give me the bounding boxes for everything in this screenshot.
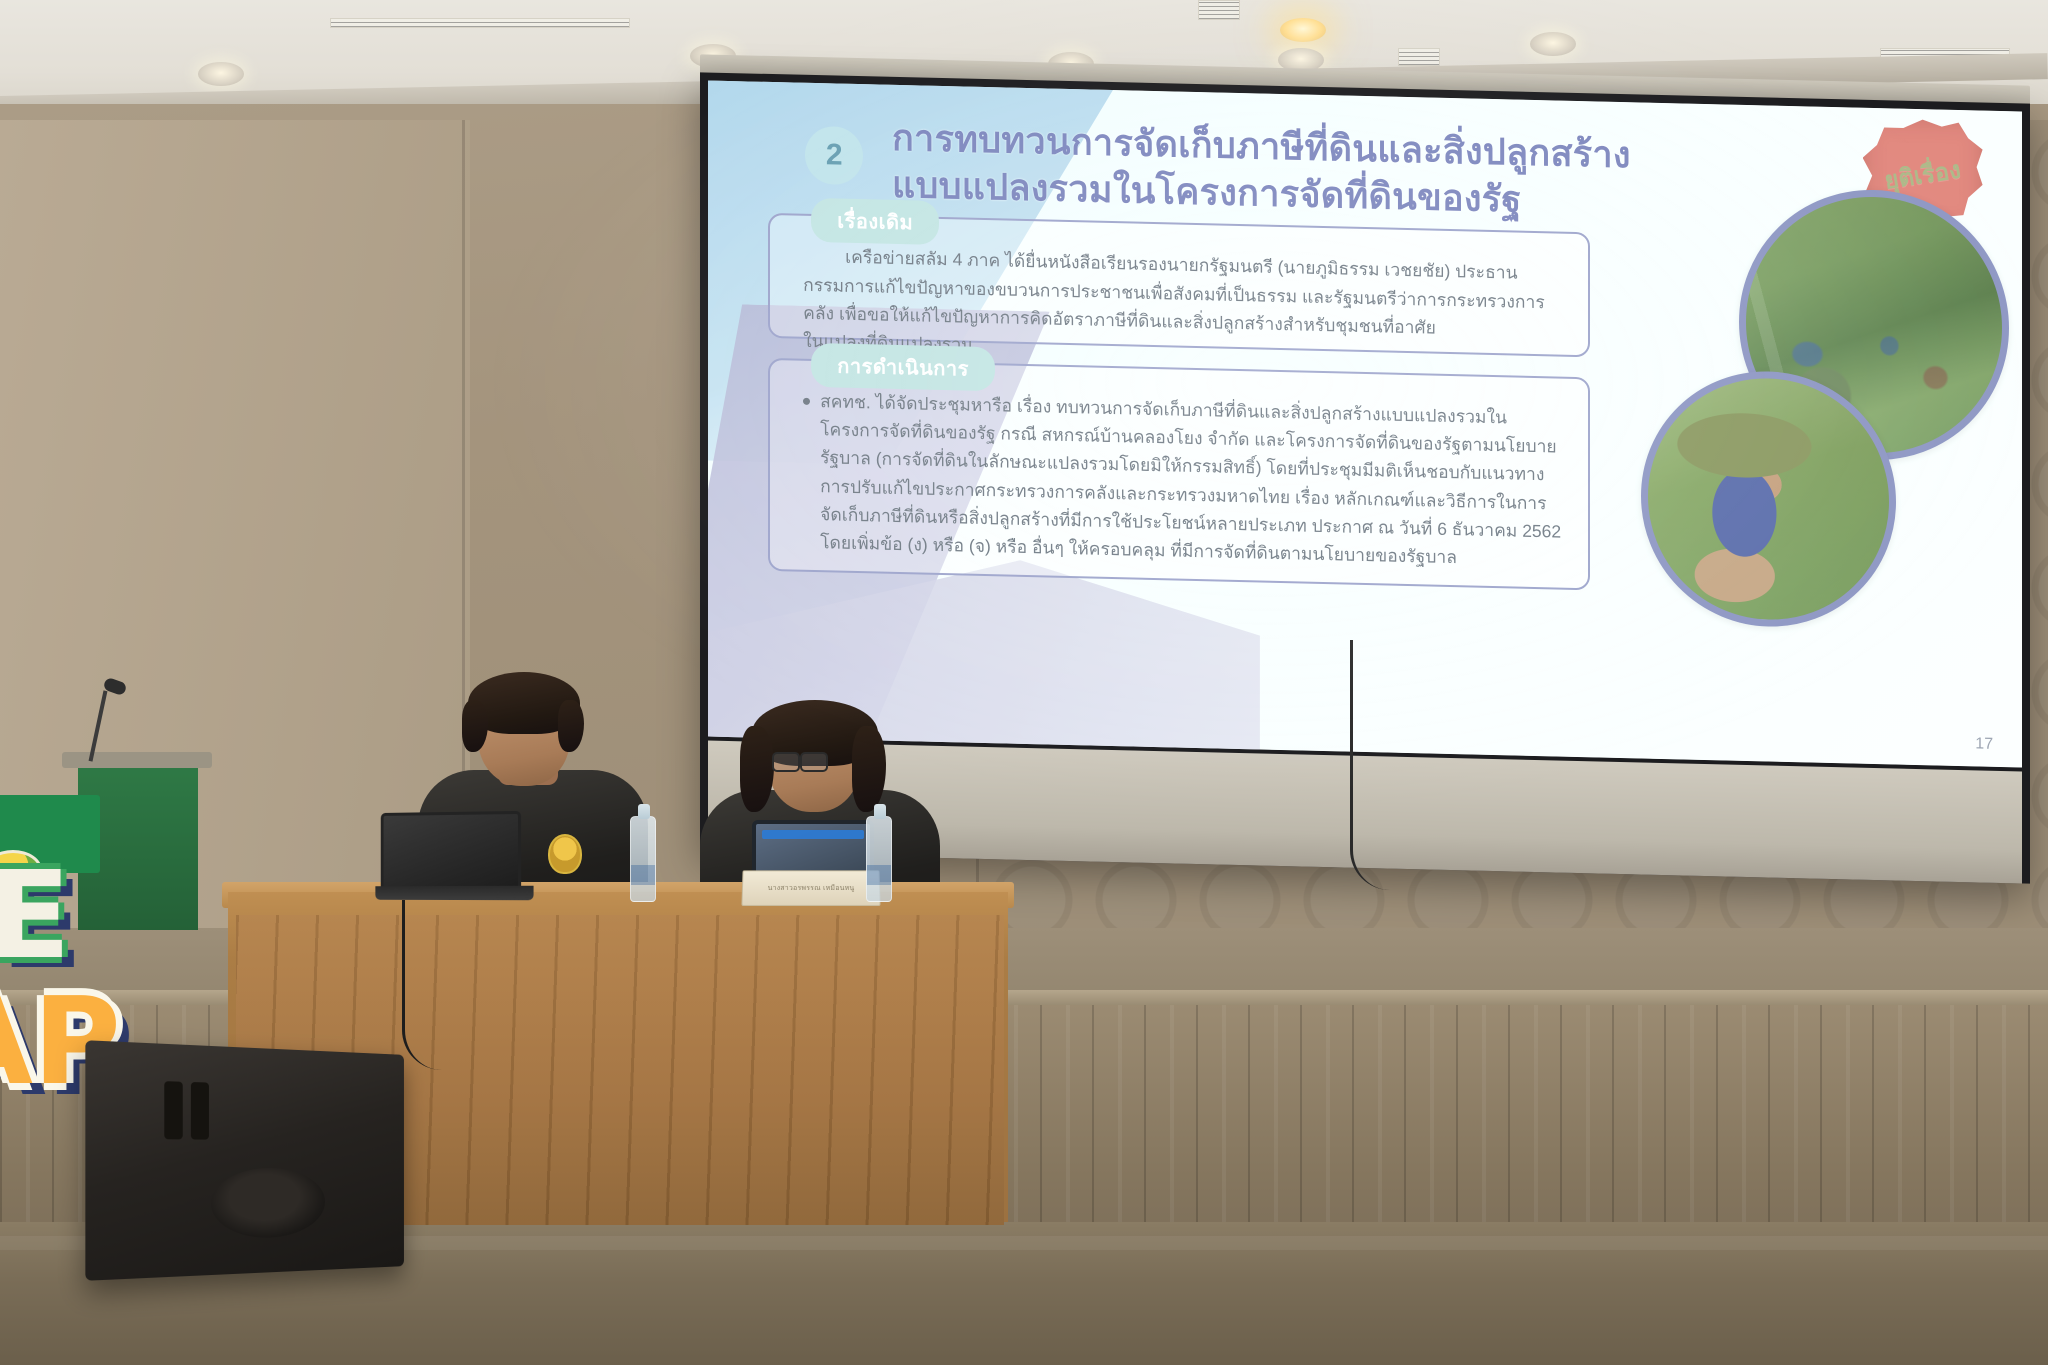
laptop-keyboard[interactable] (375, 886, 533, 900)
water-bottle (866, 816, 892, 902)
ceiling-air-vent (1198, 0, 1240, 20)
slide-card-original-matter: เรื่องเดิม เครือข่ายสลัม 4 ภาค ได้ยื่นหน… (768, 213, 1589, 357)
uniform-logo-badge-icon (548, 834, 582, 874)
stage-speaker (85, 1040, 404, 1281)
banner-text-line-1: IE (0, 857, 71, 977)
ceiling-air-vent (1398, 48, 1440, 66)
podium-top (62, 752, 212, 768)
laptop-screen[interactable] (381, 811, 521, 891)
nameplate: นางสาวอรพรรณ เหมือนหนู (741, 870, 880, 906)
conference-room-scene: 2 การทบทวนการจัดเก็บภาษีที่ดินและสิ่งปลู… (0, 0, 2048, 1365)
ceiling-downlight (1280, 18, 1326, 42)
ceiling-downlight (198, 62, 244, 86)
ceiling-downlight (1530, 32, 1576, 56)
card-body-text: สคทช. ได้จัดประชุมหารือ เรื่อง ทบทวนการจ… (803, 386, 1563, 574)
photo-farmer-in-field (1641, 368, 1896, 629)
power-cable (402, 900, 522, 1070)
card-tab-label: การดำเนินการ (811, 342, 995, 390)
water-bottle (630, 816, 656, 902)
card-tab-label: เรื่องเดิม (811, 198, 939, 245)
bullet-item: สคทช. ได้จัดประชุมหารือ เรื่อง ทบทวนการจ… (803, 386, 1563, 574)
speaker-handle-slot (164, 1081, 182, 1139)
bullet-dot-icon (803, 397, 810, 404)
slide-card-implementation: การดำเนินการ สคทช. ได้จัดประชุมหารือ เรื… (768, 357, 1589, 590)
bullet-text: สคทช. ได้จัดประชุมหารือ เรื่อง ทบทวนการจ… (820, 387, 1563, 575)
speaker-cone-icon (211, 1168, 325, 1240)
ceiling-air-vent (330, 18, 630, 28)
power-cable (1350, 640, 1390, 890)
slide-page-number: 17 (1975, 735, 1993, 753)
eyeglasses-icon (772, 752, 828, 768)
